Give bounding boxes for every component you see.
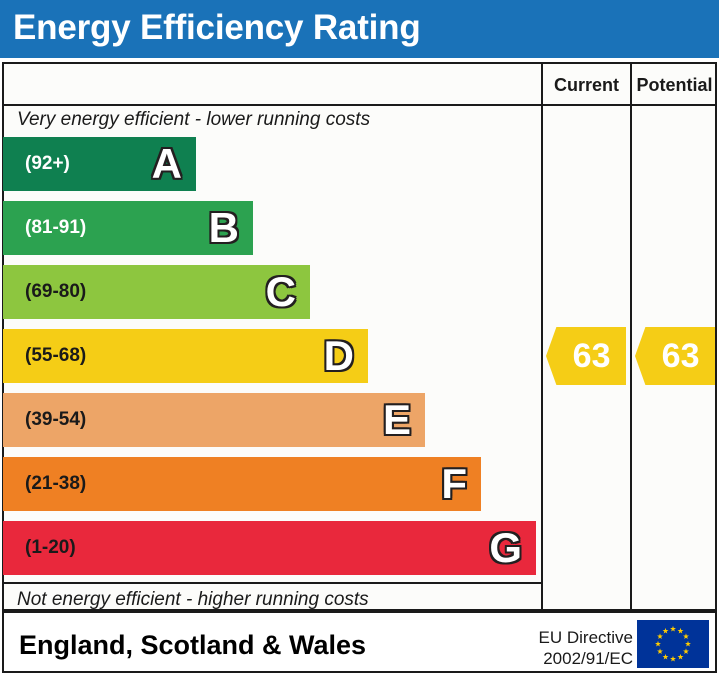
potential-column-divider [630, 62, 632, 611]
rating-band-c: (69-80)C [3, 265, 310, 319]
caption-very-efficient: Very energy efficient - lower running co… [17, 109, 370, 131]
current-column-divider [541, 62, 543, 611]
band-range-e: (39-54) [25, 409, 86, 431]
rating-band-g: (1-20)G [3, 521, 536, 575]
potential-rating-arrow: 63 [635, 327, 715, 385]
eu-flag-stars [637, 620, 709, 668]
band-range-a: (92+) [25, 153, 70, 175]
band-range-d: (55-68) [25, 345, 86, 367]
band-letter-f: F [441, 463, 467, 505]
band-letter-d: D [324, 335, 354, 377]
column-header-potential: Potential [632, 72, 717, 98]
footer-region-label: England, Scotland & Wales [19, 630, 366, 661]
rating-band-f: (21-38)F [3, 457, 481, 511]
page-title: Energy Efficiency Rating [13, 8, 421, 48]
rating-band-d: (55-68)D [3, 329, 368, 383]
caption-not-efficient: Not energy efficient - higher running co… [17, 589, 369, 611]
rating-band-a: (92+)A [3, 137, 196, 191]
band-letter-e: E [383, 399, 411, 441]
rating-band-e: (39-54)E [3, 393, 425, 447]
current-rating-arrow: 63 [546, 327, 626, 385]
band-letter-b: B [209, 207, 239, 249]
footer-bar: England, Scotland & Wales EU Directive 2… [2, 611, 717, 673]
band-letter-a: A [152, 143, 182, 185]
footer-directive-line1: EU Directive [525, 627, 633, 648]
bottom-caption-divider [2, 582, 541, 584]
footer-directive-line2: 2002/91/EC [525, 648, 633, 669]
band-range-f: (21-38) [25, 473, 86, 495]
potential-rating-value: 63 [646, 339, 715, 373]
band-range-g: (1-20) [25, 537, 76, 559]
band-letter-c: C [266, 271, 296, 313]
band-range-b: (81-91) [25, 217, 86, 239]
band-letter-g: G [489, 527, 522, 569]
energy-efficiency-rating-chart: Energy Efficiency Rating Current Potenti… [0, 0, 719, 675]
band-range-c: (69-80) [25, 281, 86, 303]
eu-flag-icon [637, 620, 709, 668]
column-header-current: Current [543, 72, 630, 98]
footer-directive: EU Directive 2002/91/EC [525, 627, 633, 669]
header-divider [2, 104, 717, 106]
current-rating-value: 63 [557, 339, 626, 373]
chart-title-bar: Energy Efficiency Rating [0, 0, 719, 58]
rating-band-b: (81-91)B [3, 201, 253, 255]
